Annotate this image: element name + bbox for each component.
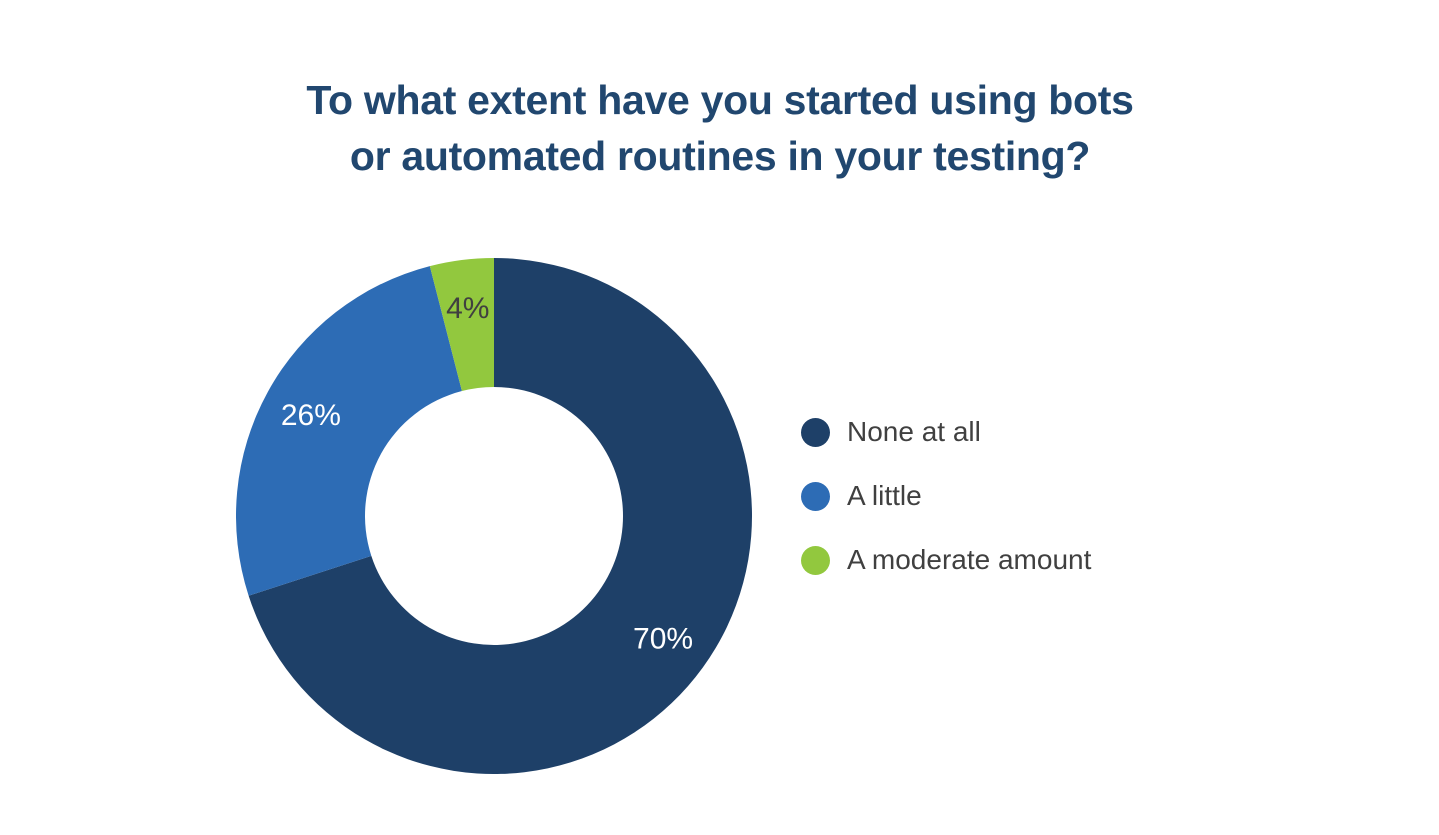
donut-chart: 70%26%4% [236, 258, 752, 774]
legend-item-a-little[interactable]: A little [801, 464, 1221, 528]
legend-item-none-at-all[interactable]: None at all [801, 400, 1221, 464]
slide-canvas: To what extent have you started using bo… [0, 0, 1439, 835]
legend-label-a-moderate-amount: A moderate amount [847, 545, 1091, 575]
donut-chart-svg: 70%26%4% [236, 258, 752, 774]
legend-swatch-icon-none-at-all [801, 418, 830, 447]
legend-swatch-icon-a-moderate-amount [801, 546, 830, 575]
donut-slice-a-little[interactable] [236, 266, 462, 596]
legend-item-a-moderate-amount[interactable]: A moderate amount [801, 528, 1221, 592]
chart-legend: None at all A little A moderate amount [801, 400, 1221, 592]
legend-swatch-icon-a-little [801, 482, 830, 511]
donut-value-label-none-at-all: 70% [633, 622, 693, 655]
donut-slice-group [236, 258, 752, 774]
chart-title: To what extent have you started using bo… [150, 72, 1290, 184]
donut-value-label-a-moderate-amount: 4% [446, 292, 489, 325]
legend-label-a-little: A little [847, 481, 922, 511]
donut-value-label-a-little: 26% [281, 399, 341, 432]
legend-label-none-at-all: None at all [847, 417, 981, 447]
